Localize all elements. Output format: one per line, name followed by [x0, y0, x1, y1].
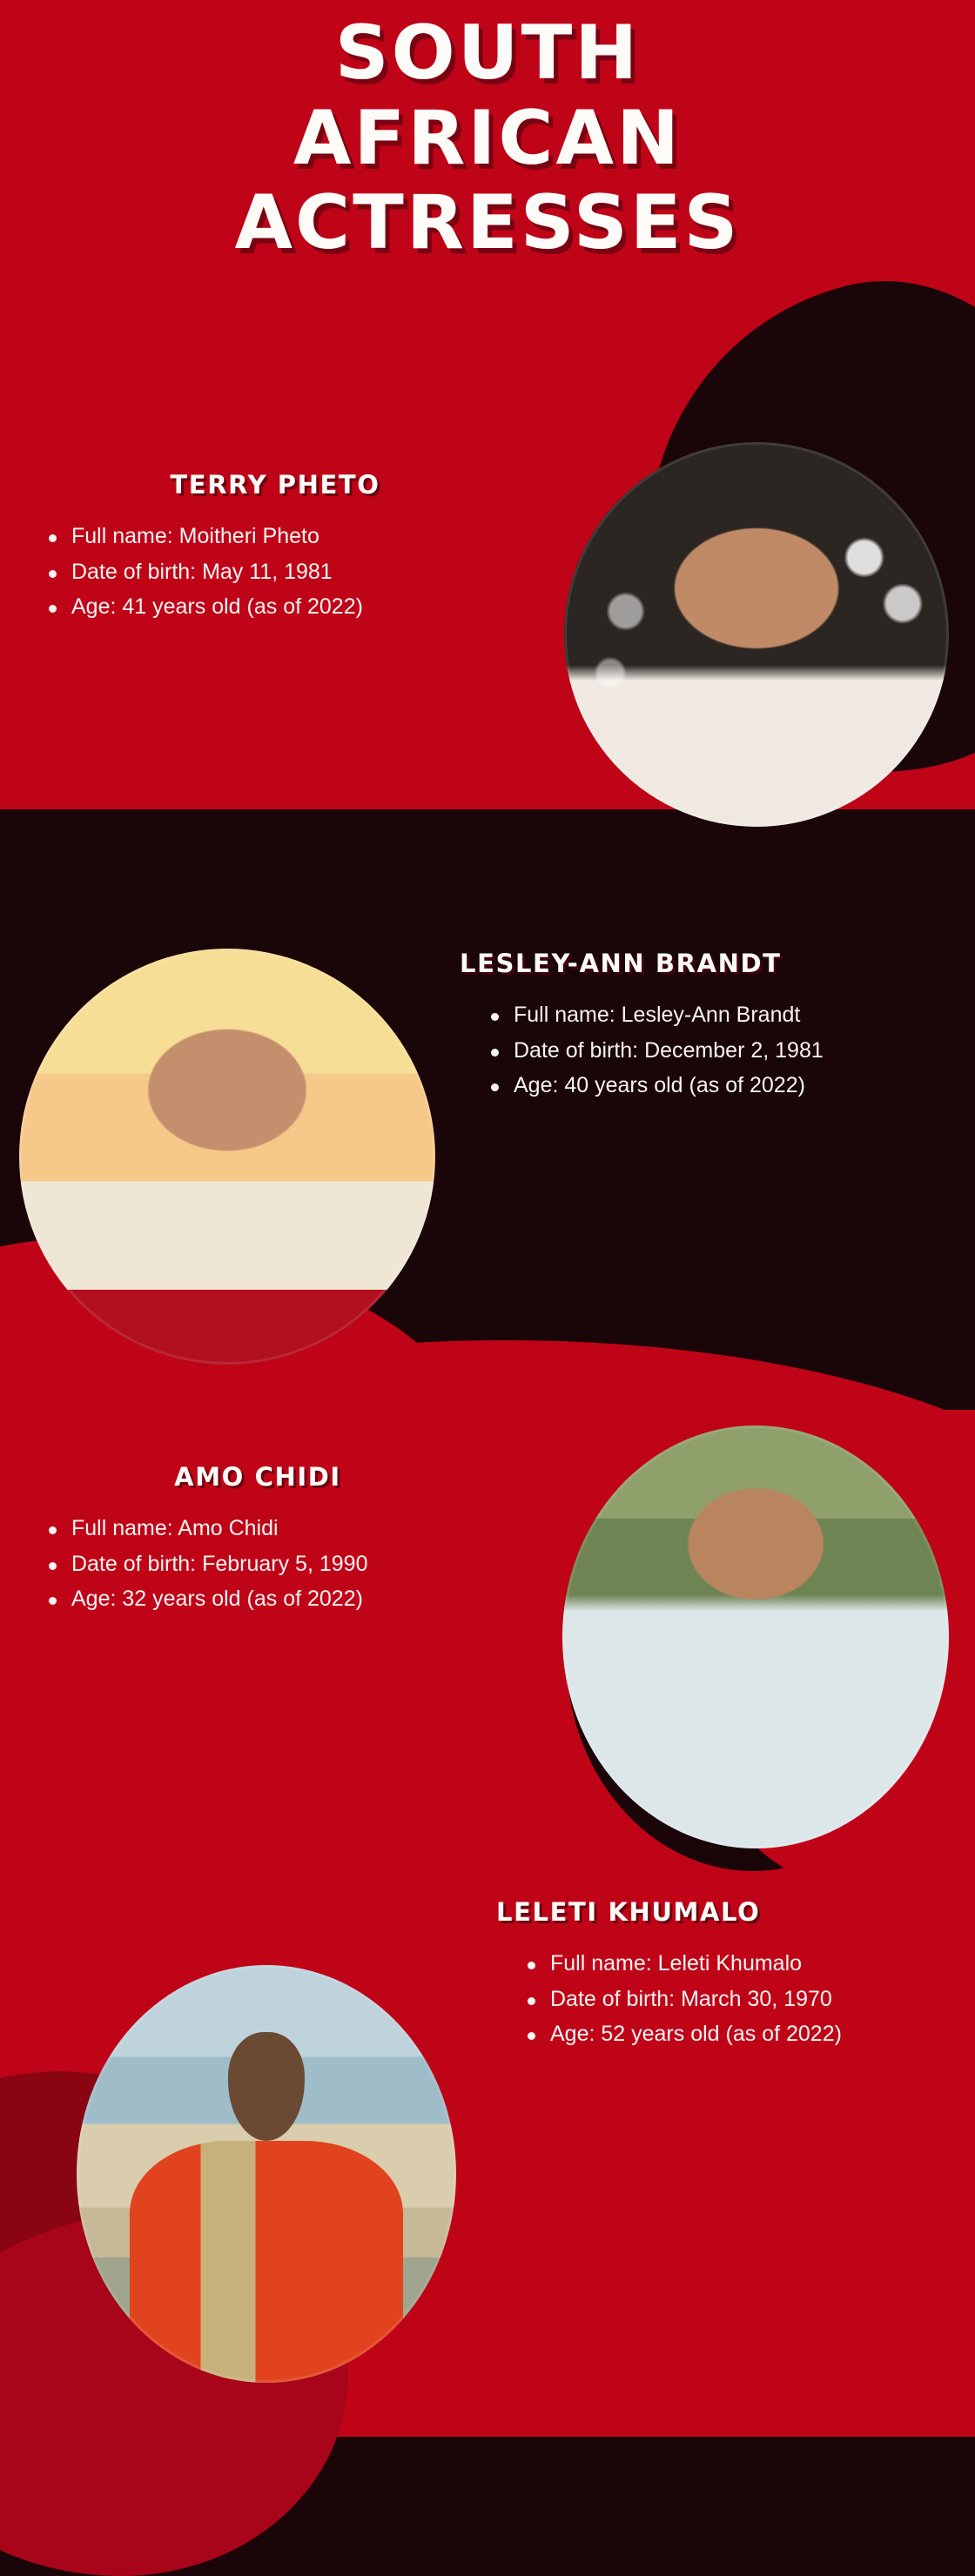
- actress-name: LESLEY-ANN BRANDT: [460, 949, 958, 978]
- portrait-face: [228, 2032, 304, 2141]
- actress-card-terry-pheto: TERRY PHETO Full name: Moitheri Pheto Da…: [40, 470, 545, 628]
- fact-full-name: Full name: Moitheri Pheto: [40, 522, 545, 552]
- actress-facts-list: Full name: Amo Chidi Date of birth: Febr…: [40, 1514, 536, 1614]
- title-line-1: SOUTH: [0, 16, 975, 92]
- actress-portrait-amo-chidi: [562, 1426, 949, 1848]
- portrait-image: [562, 1426, 949, 1848]
- actress-portrait-leleti-khumalo: [77, 1965, 456, 2383]
- fact-full-name: Full name: Lesley-Ann Brandt: [482, 1001, 958, 1030]
- fact-date-of-birth: Date of birth: February 5, 1990: [40, 1550, 536, 1580]
- actress-card-leleti-khumalo: LELETI KHUMALO Full name: Leleti Khumalo…: [496, 1897, 966, 2056]
- fact-date-of-birth: Date of birth: May 11, 1981: [40, 558, 545, 587]
- fact-age: Age: 32 years old (as of 2022): [40, 1585, 536, 1614]
- actress-facts-list: Full name: Lesley-Ann Brandt Date of bir…: [460, 1001, 958, 1101]
- actress-portrait-lesley-ann-brandt: [19, 949, 435, 1365]
- fact-full-name: Full name: Leleti Khumalo: [519, 1949, 966, 1979]
- fact-date-of-birth: Date of birth: March 30, 1970: [519, 1985, 966, 2015]
- title-line-2: AFRICAN: [0, 101, 975, 178]
- actress-name: TERRY PHETO: [40, 470, 545, 500]
- portrait-image: [19, 949, 435, 1365]
- fact-age: Age: 41 years old (as of 2022): [40, 593, 545, 622]
- actress-name: AMO CHIDI: [40, 1462, 536, 1492]
- fact-age: Age: 40 years old (as of 2022): [482, 1071, 958, 1101]
- actress-facts-list: Full name: Leleti Khumalo Date of birth:…: [496, 1949, 966, 2049]
- page-title: SOUTH AFRICAN ACTRESSES: [0, 16, 975, 262]
- portrait-clothing: [130, 2141, 403, 2383]
- actress-card-amo-chidi: AMO CHIDI Full name: Amo Chidi Date of b…: [40, 1462, 536, 1620]
- actress-facts-list: Full name: Moitheri Pheto Date of birth:…: [40, 522, 545, 622]
- portrait-image: [77, 1965, 456, 2383]
- title-line-3: ACTRESSES: [0, 185, 975, 262]
- fact-age: Age: 52 years old (as of 2022): [519, 2020, 966, 2049]
- fact-full-name: Full name: Amo Chidi: [40, 1514, 536, 1544]
- actress-card-lesley-ann-brandt: LESLEY-ANN BRANDT Full name: Lesley-Ann …: [460, 949, 958, 1107]
- actress-portrait-terry-pheto: [564, 442, 949, 827]
- fact-date-of-birth: Date of birth: December 2, 1981: [482, 1036, 958, 1066]
- actress-name: LELETI KHUMALO: [496, 1897, 966, 1927]
- portrait-image: [564, 442, 949, 827]
